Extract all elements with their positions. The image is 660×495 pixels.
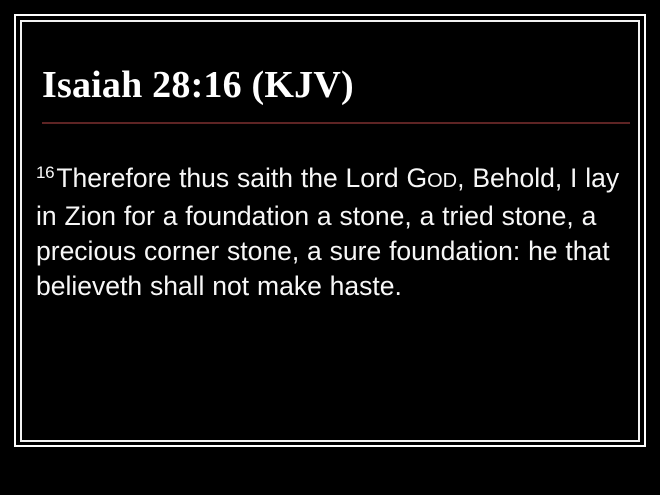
scripture-paragraph: 16Therefore thus saith the Lord GOD, Beh… (36, 161, 630, 304)
presentation-slide: Isaiah 28:16 (KJV) 16Therefore thus sait… (0, 0, 660, 495)
slide-title-container: Isaiah 28:16 (KJV) (42, 62, 632, 108)
divine-name-capital: G (406, 163, 427, 193)
verse-number: 16 (36, 163, 54, 182)
divine-name-small-caps: OD (427, 170, 457, 192)
page-title: Isaiah 28:16 (KJV) (42, 62, 632, 108)
verse-text-part-1: Therefore thus saith the Lord (56, 163, 406, 193)
slide-body-container: 16Therefore thus saith the Lord GOD, Beh… (36, 134, 630, 330)
divine-name: GOD (406, 163, 457, 193)
title-divider-rule (42, 122, 630, 124)
